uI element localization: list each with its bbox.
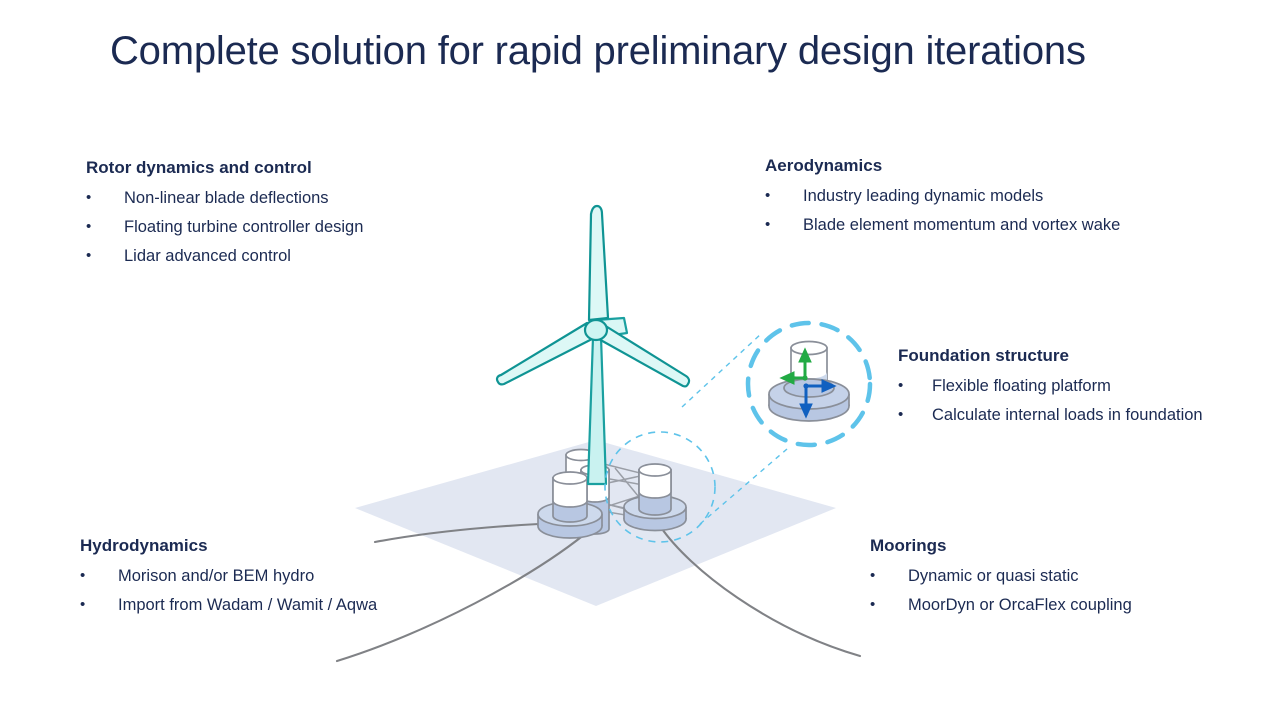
bullet-text: Non-linear blade deflections bbox=[124, 188, 363, 209]
callout-bullets-hydrodynamics: • Morison and/or BEM hydro • Import from… bbox=[80, 566, 377, 615]
turbine-blades-group bbox=[497, 206, 689, 386]
bullet-marker-icon: • bbox=[86, 217, 124, 237]
list-item: • Dynamic or quasi static bbox=[870, 566, 1132, 587]
magnified-detail-inset bbox=[748, 323, 870, 445]
callout-block-rotor-dynamics: Rotor dynamics and control • Non-linear … bbox=[86, 158, 363, 274]
bullet-text: Morison and/or BEM hydro bbox=[118, 566, 377, 587]
mooring-lines-group bbox=[337, 522, 860, 661]
detail-callout-connectors bbox=[682, 333, 787, 524]
list-item: • Calculate internal loads in foundation bbox=[898, 405, 1203, 426]
bullet-marker-icon: • bbox=[86, 188, 124, 208]
list-item: • Floating turbine controller design bbox=[86, 217, 363, 238]
water-plane-shape bbox=[355, 440, 836, 606]
list-item: • Morison and/or BEM hydro bbox=[80, 566, 377, 587]
list-item: • Industry leading dynamic models bbox=[765, 186, 1120, 207]
bullet-text: Import from Wadam / Wamit / Aqwa bbox=[118, 595, 377, 616]
callout-block-aerodynamics: Aerodynamics • Industry leading dynamic … bbox=[765, 156, 1120, 244]
mooring-line-left bbox=[375, 522, 582, 542]
callout-title-rotor-dynamics: Rotor dynamics and control bbox=[86, 158, 363, 178]
slide-canvas: Complete solution for rapid preliminary … bbox=[0, 0, 1280, 720]
platform-bracing-group bbox=[566, 463, 660, 523]
callout-title-moorings: Moorings bbox=[870, 536, 1132, 556]
turbine-blade-right bbox=[597, 325, 689, 386]
bullet-text: Floating turbine controller design bbox=[124, 217, 363, 238]
bullet-marker-icon: • bbox=[870, 595, 908, 615]
bullet-text: Dynamic or quasi static bbox=[908, 566, 1132, 587]
list-item: • Non-linear blade deflections bbox=[86, 188, 363, 209]
platform-column-left bbox=[538, 472, 602, 538]
list-item: • MoorDyn or OrcaFlex coupling bbox=[870, 595, 1132, 616]
detail-heave-plate bbox=[769, 379, 849, 421]
bullet-marker-icon: • bbox=[765, 215, 803, 235]
turbine-nacelle bbox=[596, 318, 627, 337]
bullet-marker-icon: • bbox=[80, 595, 118, 615]
callout-block-foundation-structure: Foundation structure • Flexible floating… bbox=[898, 346, 1203, 434]
callout-bullets-aerodynamics: • Industry leading dynamic models • Blad… bbox=[765, 186, 1120, 235]
platform-column-center bbox=[581, 465, 609, 534]
callout-bullets-foundation-structure: • Flexible floating platform • Calculate… bbox=[898, 376, 1203, 425]
callout-bullets-moorings: • Dynamic or quasi static • MoorDyn or O… bbox=[870, 566, 1132, 615]
platform-column-back bbox=[566, 450, 596, 501]
callout-bullets-rotor-dynamics: • Non-linear blade deflections • Floatin… bbox=[86, 188, 363, 266]
bullet-marker-icon: • bbox=[898, 405, 932, 425]
mooring-line-right bbox=[660, 526, 860, 656]
callout-title-foundation-structure: Foundation structure bbox=[898, 346, 1203, 366]
list-item: • Import from Wadam / Wamit / Aqwa bbox=[80, 595, 377, 616]
bullet-text: Lidar advanced control bbox=[124, 246, 363, 267]
callout-title-hydrodynamics: Hydrodynamics bbox=[80, 536, 377, 556]
bullet-text: MoorDyn or OrcaFlex coupling bbox=[908, 595, 1132, 616]
detail-arrows-green bbox=[783, 351, 810, 383]
bullet-marker-icon: • bbox=[898, 376, 932, 396]
turbine-blade-left bbox=[497, 323, 594, 384]
callout-block-moorings: Moorings • Dynamic or quasi static • Moo… bbox=[870, 536, 1132, 624]
bullet-text: Flexible floating platform bbox=[932, 376, 1203, 397]
bullet-marker-icon: • bbox=[765, 186, 803, 206]
bullet-text: Calculate internal loads in foundation bbox=[932, 405, 1203, 426]
list-item: • Lidar advanced control bbox=[86, 246, 363, 267]
magnifier-circle-background bbox=[748, 323, 870, 445]
bullet-text: Blade element momentum and vortex wake bbox=[803, 215, 1120, 236]
bullet-marker-icon: • bbox=[870, 566, 908, 586]
callout-block-hydrodynamics: Hydrodynamics • Morison and/or BEM hydro… bbox=[80, 536, 377, 624]
turbine-blade-up bbox=[589, 206, 608, 320]
turbine-hub bbox=[585, 320, 607, 340]
bullet-marker-icon: • bbox=[80, 566, 118, 586]
turbine-tower bbox=[588, 337, 606, 484]
callout-title-aerodynamics: Aerodynamics bbox=[765, 156, 1120, 176]
list-item: • Flexible floating platform bbox=[898, 376, 1203, 397]
bullet-text: Industry leading dynamic models bbox=[803, 186, 1120, 207]
bullet-marker-icon: • bbox=[86, 246, 124, 266]
magnifier-circle-border bbox=[748, 323, 870, 445]
list-item: • Blade element momentum and vortex wake bbox=[765, 215, 1120, 236]
detail-arrows-blue bbox=[802, 382, 834, 416]
detail-focus-circle bbox=[605, 432, 715, 542]
page-title: Complete solution for rapid preliminary … bbox=[110, 28, 1210, 74]
detail-column bbox=[791, 342, 827, 388]
platform-column-right bbox=[624, 464, 686, 531]
